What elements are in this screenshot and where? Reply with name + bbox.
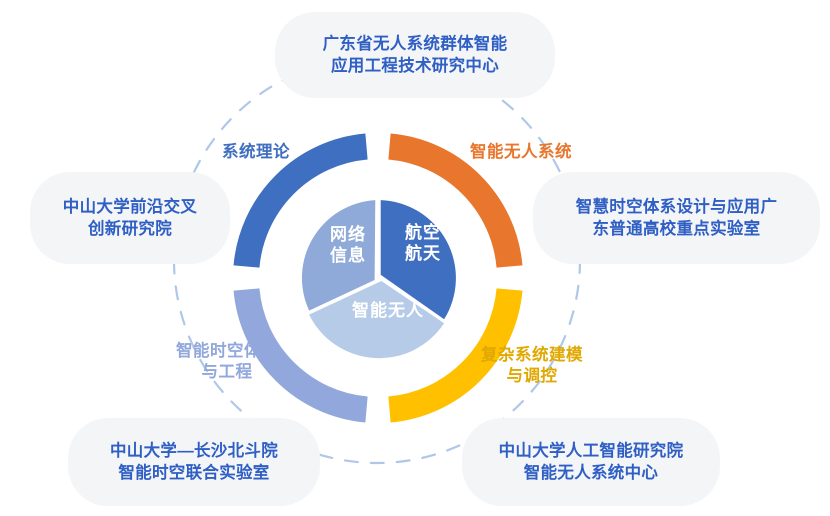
callout-left[interactable]: 中山大学前沿交叉 创新研究院 [30, 172, 230, 264]
callout-bottom-right-line-2: 智能无人系统中心 [499, 462, 684, 484]
ring-label-complex-modeling: 复杂系统建模 与调控 [481, 345, 583, 388]
callout-left-line-2: 创新研究院 [63, 218, 197, 240]
callout-top[interactable]: 广东省无人系统群体智能 应用工程技术研究中心 [275, 12, 555, 98]
callout-top-line-2: 应用工程技术研究中心 [323, 55, 508, 77]
diagram-canvas: 系统理论 智能无人系统 复杂系统建模 与调控 智能时空体系 与工程 网络 信息 … [0, 0, 830, 516]
callout-bottom-right[interactable]: 中山大学人工智能研究院 智能无人系统中心 [462, 418, 720, 506]
pie-label-unmanned-intelligence: 智能无人 [340, 300, 436, 321]
pie-label-network-information: 网络 信息 [318, 224, 378, 267]
callout-bottom-right-line-1: 中山大学人工智能研究院 [499, 440, 684, 462]
pie-label-aerospace: 航空 航天 [393, 222, 453, 265]
ring-label-system-theory: 系统理论 [222, 142, 290, 163]
callout-right-line-2: 东普通高校重点实验室 [576, 218, 778, 240]
callout-right-line-1: 智慧时空体系设计与应用广 [576, 196, 778, 218]
callout-bottom-left[interactable]: 中山大学—长沙北斗院 智能时空联合实验室 [68, 418, 320, 506]
callout-bottom-left-line-1: 中山大学—长沙北斗院 [110, 440, 278, 462]
callout-top-line-1: 广东省无人系统群体智能 [323, 33, 508, 55]
callout-right[interactable]: 智慧时空体系设计与应用广 东普通高校重点实验室 [533, 172, 820, 264]
ring-label-intelligent-uas: 智能无人系统 [470, 142, 572, 163]
ring-label-spatiotemporal: 智能时空体系 与工程 [176, 341, 278, 384]
callout-bottom-left-line-2: 智能时空联合实验室 [110, 462, 278, 484]
callout-left-line-1: 中山大学前沿交叉 [63, 196, 197, 218]
